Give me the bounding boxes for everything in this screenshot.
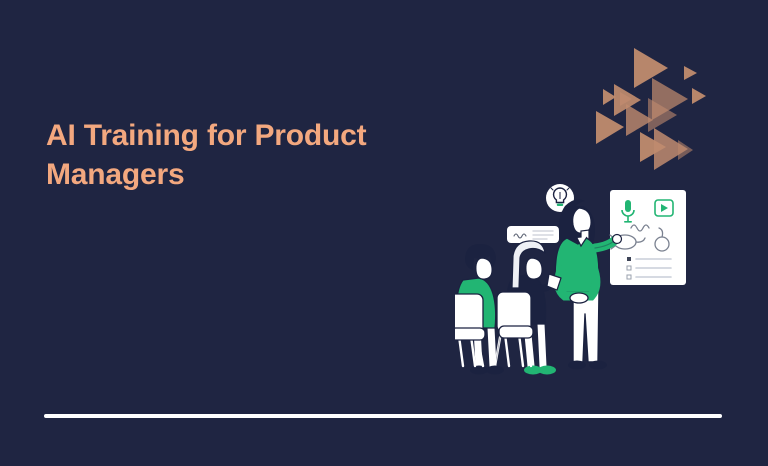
attendee-right-figure (495, 241, 561, 375)
training-illustration (455, 178, 700, 383)
page-title-line-2: Managers (46, 155, 426, 194)
bottom-rule (44, 414, 722, 418)
page-title-line-1: AI Training for Product (46, 116, 426, 155)
triangle-cluster-decoration (596, 36, 716, 172)
slide-canvas: AI Training for Product Managers (0, 0, 768, 466)
page-title: AI Training for Product Managers (46, 116, 426, 194)
